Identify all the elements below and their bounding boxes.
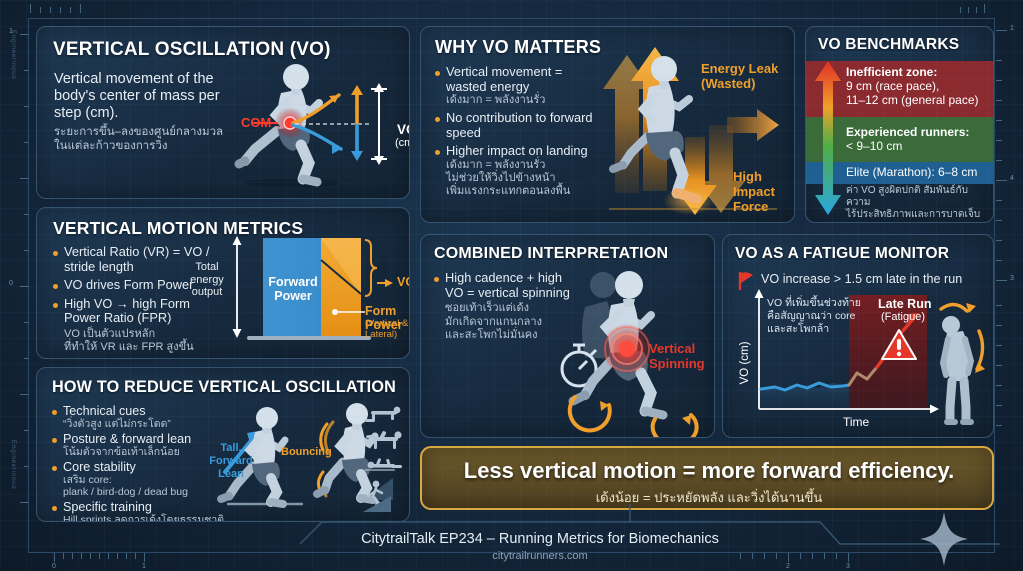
banner-headline: Less vertical motion = more forward effi… — [422, 458, 996, 484]
fatigue-note-th: VO ที่เพิ่มขึ้นช่วงท้าย คือสัญญาณว่า cor… — [767, 297, 887, 336]
warning-triangle-icon — [881, 329, 917, 361]
list-item: Vertical movement = wasted energy เด้งมา… — [433, 65, 603, 107]
panel-vo-desc-th-2: ในแต่ละก้าวของการวิ่ง — [54, 139, 244, 153]
exercise-icon-stack — [361, 404, 409, 516]
panel-fatigue-title: VO AS A FATIGUE MONITOR — [735, 245, 949, 263]
panel-benchmarks-title: VO BENCHMARKS — [818, 36, 959, 54]
benchmark-label-elite: Elite (Marathon): 6–8 cm — [846, 165, 977, 179]
ruler-left-num-1: 1 — [9, 28, 13, 35]
bullet-text: Specific training — [63, 500, 225, 514]
summary-banner: Less vertical motion = more forward effi… — [420, 446, 994, 510]
plank-icon — [365, 407, 400, 422]
ruler-right-num-2: 4 — [1010, 175, 1014, 182]
bar-label-forward-power: Forward Power — [265, 275, 321, 303]
late-run-title: Late Run — [878, 297, 931, 311]
infographic-canvas: Engineerinous Engineerinous 1 4 3 — [0, 0, 1023, 571]
benchmark-label-experienced: Experienced runners: — [846, 125, 969, 139]
fatigue-y-axis-label: VO (cm) — [739, 333, 751, 393]
panel-vertical-oscillation: VERTICAL OSCILLATION (VO) Vertical movem… — [36, 26, 410, 199]
bullet-text-th: “วิ่งตัวสูง แต่ไม่กระโดด” — [63, 418, 225, 430]
bullet-text: Higher impact on landing — [446, 144, 603, 159]
fatigued-runner-figure — [935, 297, 991, 431]
fatigue-x-axis-label: Time — [843, 415, 869, 429]
list-item: Core stability เสริม core: plank / bird-… — [50, 460, 225, 498]
com-label: COM — [241, 115, 271, 130]
bracket-label-vo: VO — [397, 275, 410, 289]
ruler-left: 1 0 — [6, 20, 30, 540]
ruler-bottom-num-1: 1 — [142, 563, 146, 570]
ruler-left-num-0: 0 — [9, 280, 13, 287]
banner-subline: เด้งน้อย = ประหยัดพลัง และวิ่งได้นานขึ้น — [422, 487, 996, 508]
footer-title: CitytrailTalk EP234 – Running Metrics fo… — [300, 531, 780, 547]
bullet-text: High VO → high Form Power Ratio (FPR) — [64, 297, 216, 326]
benchmark-value-experienced: < 9–10 cm — [846, 139, 902, 153]
panel-reduce-title: HOW TO REDUCE VERTICAL OSCILLATION — [52, 378, 396, 397]
ruler-bottom-left: 0 1 — [54, 553, 194, 571]
bullet-text: No contribution to forward speed — [446, 111, 603, 140]
bird-dog-icon — [366, 431, 402, 449]
panel-reduce-bullets: Technical cues “วิ่งตัวสูง แต่ไม่กระโดด”… — [50, 404, 225, 522]
label-tall-forward-lean: Tall, Forward Lean — [205, 442, 257, 481]
late-run-sub: (Fatigue) — [881, 311, 925, 323]
frame-top — [28, 18, 994, 19]
ruler-top — [30, 4, 160, 18]
bullet-text-th: Hill sprints ลดการเด้งโดยธรรมชาติ — [63, 514, 225, 522]
ruler-bottom-num-2: 2 — [786, 563, 790, 570]
label-energy-leak: Energy Leak (Wasted) — [701, 61, 778, 91]
bullet-text: Vertical movement = wasted energy — [446, 65, 603, 94]
ruler-right-num-3: 3 — [1010, 275, 1014, 282]
red-flag-icon — [737, 271, 755, 291]
ruler-right-num-1: 1 — [1010, 25, 1014, 32]
panel-why-bullets: Vertical movement = wasted energy เด้งมา… — [433, 65, 603, 202]
bullet-text-th: เด้งมาก = พลังงานรั่ว — [446, 94, 603, 107]
bullet-text: Technical cues — [63, 404, 225, 418]
list-item: Posture & forward lean โน้มตัวจากข้อเท้า… — [50, 432, 225, 458]
hill-sprint-icon — [363, 481, 391, 512]
panel-combined-interpretation: COMBINED INTERPRETATION High cadence + h… — [420, 234, 715, 438]
bullet-text-th: โน้มตัวจากข้อเท้าเล็กน้อย — [63, 446, 225, 458]
label-vertical-spinning: Vertical Spinning — [649, 341, 705, 371]
panel-vo-desc-en: Vertical movement of the body's center o… — [54, 71, 229, 122]
fatigue-flag-text: VO increase > 1.5 cm late in the run — [761, 272, 962, 286]
list-item: Higher impact on landing เด้งมาก = พลังง… — [433, 144, 603, 198]
bullet-text: Core stability — [63, 460, 225, 474]
list-item: High VO → high Form Power Ratio (FPR) VO… — [51, 297, 216, 354]
list-item: Specific training Hill sprints ลดการเด้ง… — [50, 500, 225, 522]
dead-bug-icon — [365, 458, 402, 471]
benchmark-value-inefficient: 9 cm (race pace), 11–12 cm (general pace… — [846, 79, 990, 107]
list-item: No contribution to forward speed — [433, 111, 603, 140]
label-high-impact-force: High Impact Force — [733, 169, 775, 214]
benchmark-label-inefficient: Inefficient zone: — [846, 65, 937, 79]
panel-fatigue-monitor: VO AS A FATIGUE MONITOR VO increase > 1.… — [722, 234, 994, 438]
label-bouncing: Bouncing — [281, 446, 332, 458]
panel-vo-desc-th-1: ระยะการขึ้น–ลงของศูนย์กลางมวล — [54, 125, 244, 139]
axis-label-total-energy: Total energy output — [187, 261, 227, 299]
ruler-right: 1 4 3 — [996, 20, 1022, 540]
panel-why-title: WHY VO MATTERS — [435, 37, 601, 58]
ruler-top-right — [960, 4, 1000, 18]
vo-label: VO — [397, 122, 410, 137]
sparkle-icon — [920, 512, 968, 566]
ruler-bottom-num-0: 0 — [52, 563, 56, 570]
benchmark-footnote: ค่า VO สูงผิดปกติ สัมพันธ์กับความ ไร้ประ… — [846, 185, 992, 221]
benchmark-gradient-arrow — [814, 61, 842, 215]
bar-label-form-power-sub: (Vertical & Lateral) — [365, 318, 409, 340]
panel-vertical-motion-metrics: VERTICAL MOTION METRICS Vertical Ratio (… — [36, 207, 410, 359]
bullet-text-th: เด้งมาก = พลังงานรั่ว ไม่ช่วยให้วิ่งไปข้… — [446, 159, 603, 198]
panel-why-vo-matters: WHY VO MATTERS Vertical movement = waste… — [420, 26, 795, 223]
bullet-text-th: VO เป็นตัวแปรหลัก ที่ทำให้ VR และ FPR สู… — [64, 328, 216, 354]
vo-unit-label: (cm) — [395, 137, 410, 149]
footer-url: citytrailrunners.com — [300, 550, 780, 562]
bullet-text-th: เสริม core: plank / bird-dog / dead bug — [63, 474, 225, 498]
ruler-bottom-num-3: 3 — [846, 563, 850, 570]
panel-vo-benchmarks: VO BENCHMARKS Inefficient zone: 9 cm (ra… — [805, 26, 994, 223]
list-item: Technical cues “วิ่งตัวสูง แต่ไม่กระโดด” — [50, 404, 225, 430]
bullet-text: Posture & forward lean — [63, 432, 225, 446]
panel-how-to-reduce: HOW TO REDUCE VERTICAL OSCILLATION Techn… — [36, 367, 410, 522]
